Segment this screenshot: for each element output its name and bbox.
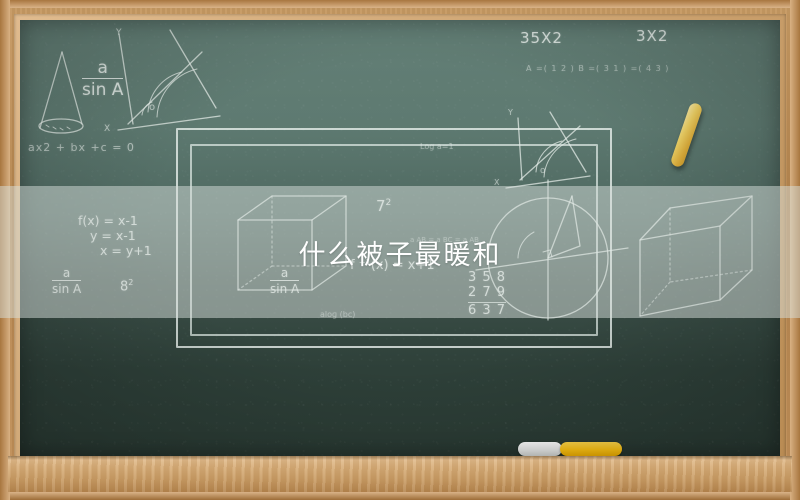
ledge-wood-grain: [8, 456, 792, 492]
title-overlay-band: 什么被子最暖和: [0, 186, 800, 318]
frame-bevel-top: [0, 0, 800, 8]
frame-bevel-bottom: [0, 492, 800, 500]
page-title: 什么被子最暖和: [299, 233, 502, 272]
ledge-shadow: [8, 456, 792, 460]
blackboard-scene: a sin A Y X o ax2 + bx +c = 0 f(x) = x-1…: [0, 0, 800, 500]
chalk-ledge: [8, 456, 792, 492]
